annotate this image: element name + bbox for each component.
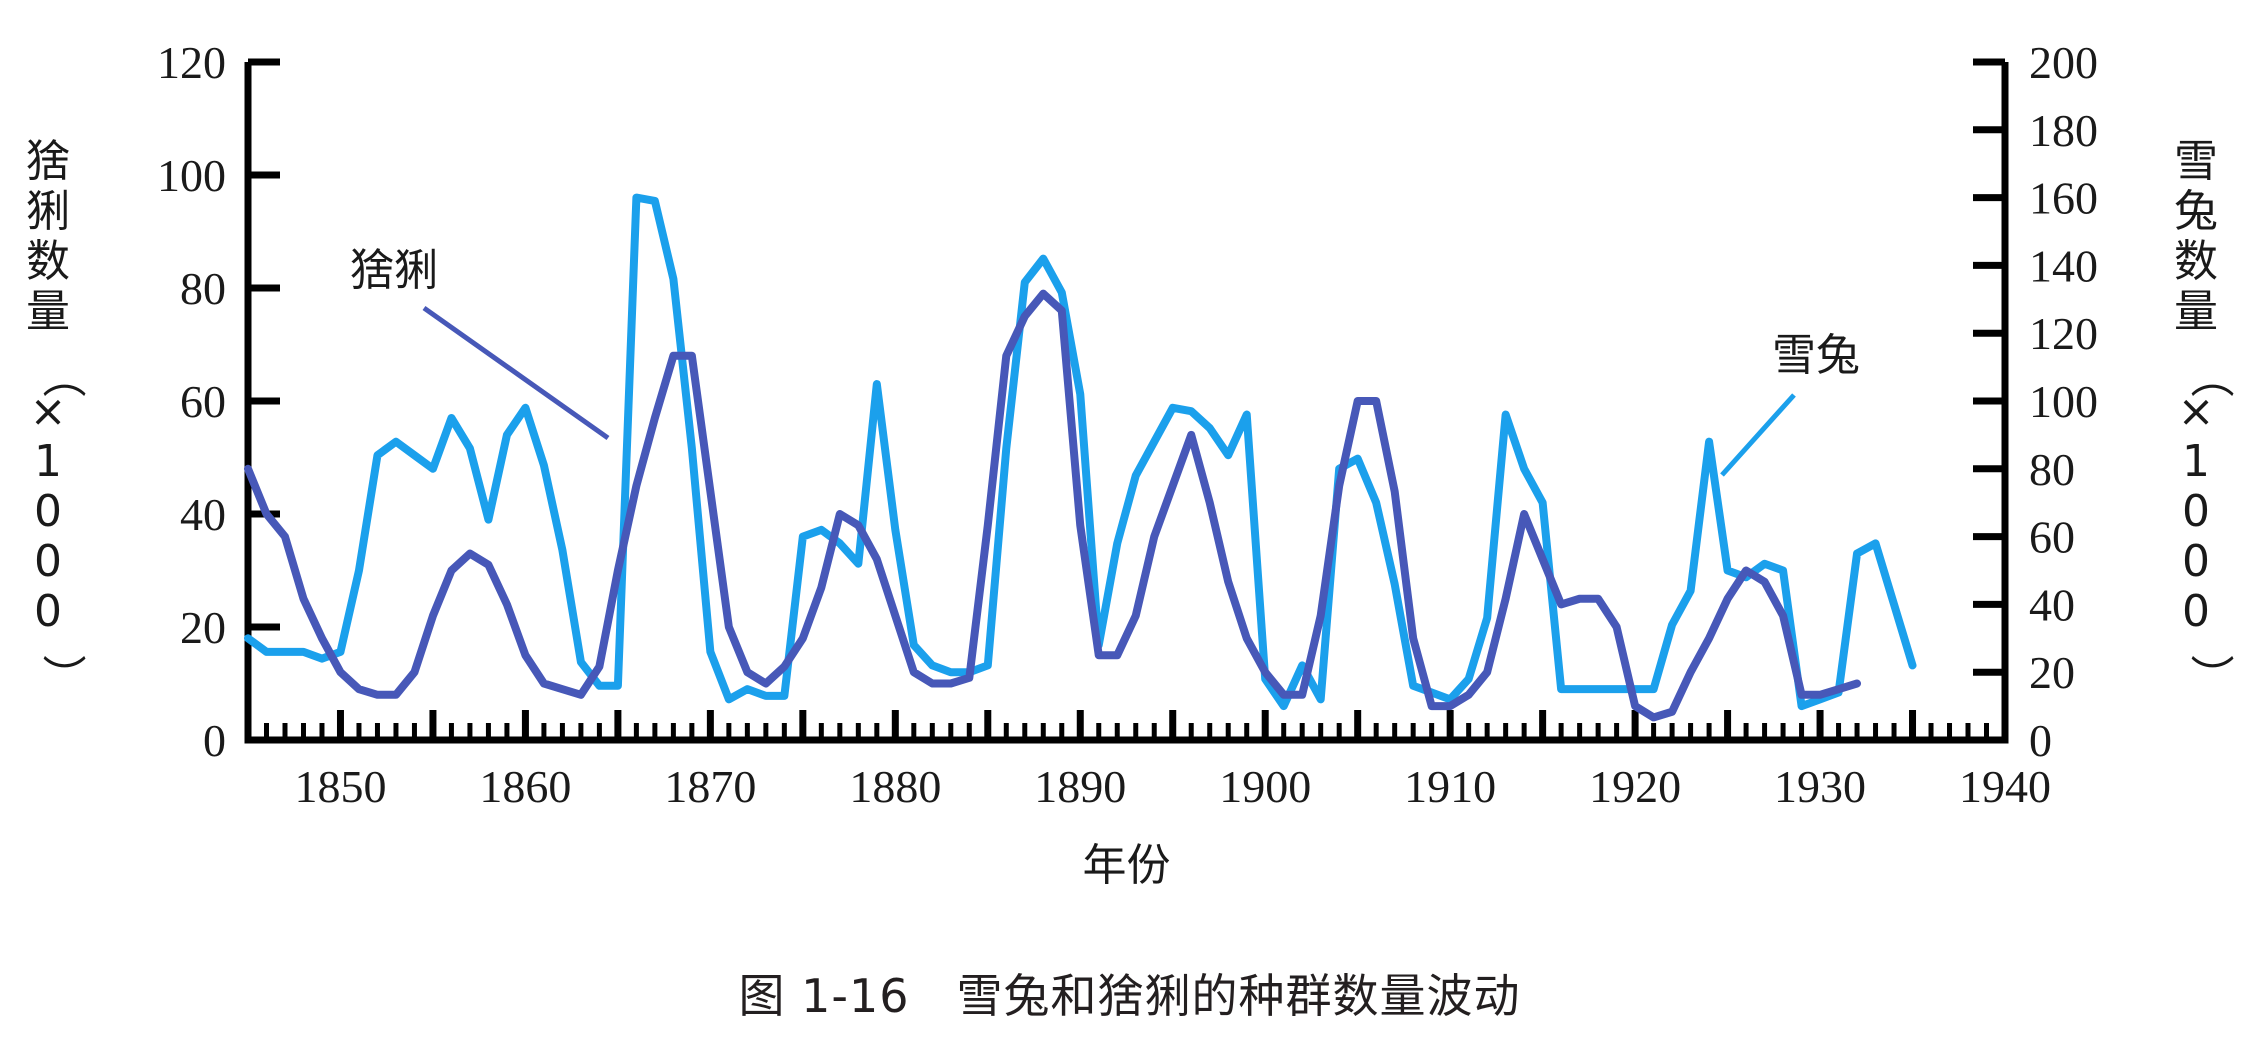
x-tick-label: 1850 xyxy=(294,761,386,812)
y-left-axis-title-char: 0 xyxy=(34,586,62,637)
y-left-axis-title-char: 0 xyxy=(34,536,62,587)
y-right-tick-label: 0 xyxy=(2029,715,2052,766)
x-tick-label: 1940 xyxy=(1959,761,2051,812)
y-left-tick-label: 80 xyxy=(180,263,226,314)
y-right-tick-label: 100 xyxy=(2029,376,2098,427)
y-right-axis-title-char: 0 xyxy=(2182,586,2210,637)
x-tick-label: 1870 xyxy=(664,761,756,812)
y-right-axis-title-char: 兔 xyxy=(2174,186,2218,237)
annotation-label-hare: 雪兔 xyxy=(1772,330,1860,381)
y-left-axis-title-char: 量 xyxy=(26,286,70,337)
y-left-tick-label: 60 xyxy=(180,376,226,427)
x-tick-label: 1890 xyxy=(1034,761,1126,812)
y-right-axis-title-char: 雪 xyxy=(2174,136,2218,187)
x-tick-label: 1900 xyxy=(1219,761,1311,812)
x-tick-label: 1930 xyxy=(1774,761,1866,812)
y-left-axis-title-char: 猁 xyxy=(26,186,70,237)
y-left-axis-title-char: × xyxy=(30,386,67,437)
y-right-tick-label: 160 xyxy=(2029,173,2098,224)
y-left-tick-label: 20 xyxy=(180,602,226,653)
y-right-axis-title-char: 数 xyxy=(2174,236,2218,287)
y-right-axis-title-char: 1 xyxy=(2182,436,2210,487)
y-left-axis-title-char: 数 xyxy=(26,236,70,287)
y-left-axis-title-char: 0 xyxy=(34,486,62,537)
x-tick-label: 1860 xyxy=(479,761,571,812)
y-right-axis-title-char: ） xyxy=(2185,654,2236,698)
x-tick-label: 1920 xyxy=(1589,761,1681,812)
series-layer xyxy=(248,198,1913,718)
y-right-tick-label: 200 xyxy=(2029,37,2098,88)
y-left-tick-label: 0 xyxy=(203,715,226,766)
y-right-tick-label: 180 xyxy=(2029,105,2098,156)
y-left-tick-label: 100 xyxy=(157,150,226,201)
y-left-axis-title-char: 1 xyxy=(34,436,62,487)
annotations-layer: 猞猁雪兔 xyxy=(350,245,1860,475)
x-tick-label: 1910 xyxy=(1404,761,1496,812)
y-right-tick-label: 140 xyxy=(2029,240,2098,291)
y-left-axis-title-char: ） xyxy=(37,654,88,698)
y-right-axis-title-char: 量 xyxy=(2174,286,2218,337)
y-right-tick-label: 80 xyxy=(2029,444,2075,495)
y-right-tick-label: 60 xyxy=(2029,512,2075,563)
annotation-leader-hare xyxy=(1722,395,1794,475)
y-right-axis-title-char: 0 xyxy=(2182,486,2210,537)
y-left-tick-label: 120 xyxy=(157,37,226,88)
y-left-tick-label: 40 xyxy=(180,489,226,540)
figure-caption: 图 1-16 雪兔和猞猁的种群数量波动 xyxy=(0,960,2259,1026)
annotation-label-lynx: 猞猁 xyxy=(350,245,438,296)
y-right-axis-title-char: × xyxy=(2178,386,2215,437)
y-right-axis-title-char: 0 xyxy=(2182,536,2210,587)
population-fluctuation-chart: 1850186018701880189019001910192019301940… xyxy=(0,0,2259,1048)
y-right-tick-label: 20 xyxy=(2029,647,2075,698)
y-left-axis-title-char: 猞 xyxy=(26,136,70,187)
figure-container: 1850186018701880189019001910192019301940… xyxy=(0,0,2259,1048)
x-tick-label: 1880 xyxy=(849,761,941,812)
x-axis-title: 年份 xyxy=(1083,840,1171,891)
y-right-tick-label: 40 xyxy=(2029,579,2075,630)
series-line-hare xyxy=(248,198,1913,706)
y-right-tick-label: 120 xyxy=(2029,308,2098,359)
